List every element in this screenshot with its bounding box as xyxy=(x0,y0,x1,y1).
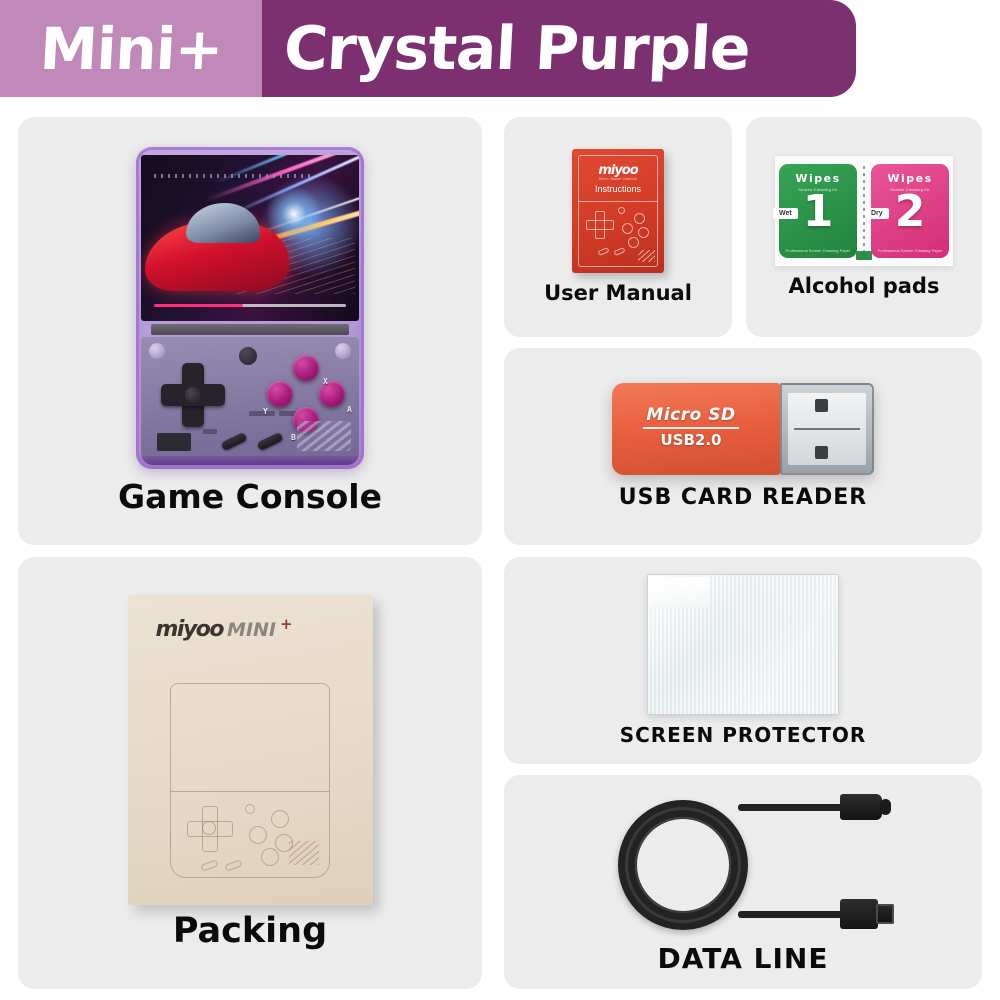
select-button xyxy=(220,431,247,450)
wipe-title-wet: Wipes xyxy=(779,172,857,185)
box-outline-dpad-center xyxy=(202,821,216,835)
item-card-usb-card-reader[interactable]: Micro SD USB2.0 USB CARD READER xyxy=(504,348,982,545)
wipe-footer-wet: Professional Screen Cleaning Paper xyxy=(779,249,857,253)
manual-button-outline xyxy=(622,223,633,234)
wipe-footer-dry: Professional Screen Cleaning Paper xyxy=(871,249,949,253)
button-y xyxy=(267,381,293,407)
manual-divider xyxy=(578,201,658,202)
box-outline-button xyxy=(271,810,289,828)
usb-connector-bar xyxy=(794,428,860,430)
box-outline-button xyxy=(249,826,267,844)
manual-logo: miyoo xyxy=(572,163,664,178)
console-control-deck: X Y A B xyxy=(141,337,359,465)
model-badge-label: Mini+ xyxy=(38,20,223,78)
retail-box: miyoo MINI + xyxy=(128,595,373,905)
item-card-data-line[interactable]: DATA LINE xyxy=(504,775,982,989)
console-screen xyxy=(141,155,359,321)
item-label-data-line: DATA LINE xyxy=(658,942,829,975)
screen-light-flare xyxy=(266,186,322,242)
box-outline-select xyxy=(200,859,218,871)
usb-a-connector xyxy=(780,383,874,475)
item-label-packing: Packing xyxy=(173,911,327,951)
item-card-packing[interactable]: miyoo MINI + xyxy=(18,557,482,989)
console-hinge-grille xyxy=(151,324,349,335)
cable-coil-inner xyxy=(625,807,741,923)
data-line-image xyxy=(578,790,908,940)
manual-subtitle: Instructions xyxy=(572,184,664,194)
manual-booklet: miyoo Retro Game Console Instructions xyxy=(572,149,664,273)
item-label-user-manual: User Manual xyxy=(544,281,692,305)
colorway-banner: Crystal Purple xyxy=(262,0,856,97)
function-button xyxy=(239,347,257,365)
box-logo-mini: MINI xyxy=(227,619,276,641)
shoulder-button-left xyxy=(149,343,165,359)
protector-film xyxy=(647,574,839,715)
usb-cable xyxy=(578,790,908,940)
usb-c-connector xyxy=(840,794,882,820)
pcb-trace xyxy=(249,411,275,416)
wipe-title-dry: Wipes xyxy=(871,172,949,185)
item-card-game-console[interactable]: X Y A B Game Console xyxy=(18,117,482,545)
usb-card-reader-image: Micro SD USB2.0 xyxy=(612,383,874,475)
user-manual-image: miyoo Retro Game Console Instructions xyxy=(572,149,664,273)
game-console-image: X Y A B xyxy=(136,147,364,469)
box-logo: miyoo MINI + xyxy=(156,617,353,642)
box-console-outline xyxy=(170,683,330,878)
card-reader-body: Micro SD USB2.0 xyxy=(612,383,780,475)
cable-lead-top xyxy=(738,804,846,811)
box-outline-button xyxy=(245,804,255,814)
wipe-sachet-wet: Wipes Screen Cleaning Kit 1 Wet Professi… xyxy=(779,164,857,258)
product-title-banner: Mini+ Crystal Purple xyxy=(0,0,856,97)
button-x xyxy=(293,355,319,381)
model-badge: Mini+ xyxy=(0,0,262,97)
card-reader-rule xyxy=(643,427,739,429)
pack-tab-nub xyxy=(856,251,872,260)
box-logo-plus: + xyxy=(280,615,293,633)
manual-button-outline xyxy=(618,207,625,214)
manual-button-outline xyxy=(634,213,645,224)
box-outline-button xyxy=(261,848,279,866)
packing-box-image: miyoo MINI + xyxy=(128,595,373,905)
box-outline-screen xyxy=(171,684,329,792)
item-card-user-manual[interactable]: miyoo Retro Game Console Instructions Us… xyxy=(504,117,732,337)
usb-a-connector xyxy=(840,899,878,929)
button-a-label: A xyxy=(347,405,352,414)
item-label-alcohol-pads: Alcohol pads xyxy=(789,274,940,298)
card-reader-microsd-text: Micro SD xyxy=(612,405,770,425)
item-card-alcohol-pads[interactable]: Wipes Screen Cleaning Kit 1 Wet Professi… xyxy=(746,117,982,337)
button-y-label: Y xyxy=(263,407,268,416)
start-button xyxy=(256,431,283,450)
cable-lead-bottom xyxy=(738,911,846,918)
manual-speaker-outline xyxy=(638,250,655,262)
package-contents-grid: X Y A B Game Console miyoo Retro Game Co… xyxy=(0,105,1000,1000)
console-shell: X Y A B xyxy=(136,147,364,469)
protector-sheen xyxy=(648,575,838,714)
wipe-sachet-dry: Wipes Screen Cleaning Kit 2 Dry Professi… xyxy=(871,164,949,258)
card-reader-print: Micro SD USB2.0 xyxy=(612,405,770,449)
shoulder-button-right xyxy=(335,343,351,359)
console-bottom-edge xyxy=(141,456,359,465)
speaker-grille xyxy=(297,421,351,451)
manual-button-outline xyxy=(628,237,639,248)
button-b-label: B xyxy=(291,433,296,442)
box-outline-start xyxy=(224,859,242,871)
usb-connector-contacts xyxy=(788,393,866,465)
card-reader-usb-version-text: USB2.0 xyxy=(612,431,770,449)
box-logo-miyoo: miyoo xyxy=(156,617,224,642)
screen-progress-bar xyxy=(154,304,346,307)
pcb-chip xyxy=(157,433,191,451)
screen-protector-image xyxy=(647,574,839,715)
manual-tagline: Retro Game Console xyxy=(572,177,664,181)
box-outline-dpad xyxy=(187,806,231,850)
box-outline-speaker xyxy=(289,841,319,865)
item-label-screen-protector: SCREEN PROTECTOR xyxy=(620,723,867,747)
colorway-label: Crystal Purple xyxy=(282,19,751,79)
manual-dpad-outline xyxy=(586,211,612,237)
alcohol-pads-image: Wipes Screen Cleaning Kit 1 Wet Professi… xyxy=(775,156,953,266)
wipe-tab-wet: Wet xyxy=(773,208,798,219)
card-reader-device: Micro SD USB2.0 xyxy=(612,383,874,475)
item-card-screen-protector[interactable]: SCREEN PROTECTOR xyxy=(504,557,982,764)
wipes-pack: Wipes Screen Cleaning Kit 1 Wet Professi… xyxy=(775,156,953,266)
button-x-label: X xyxy=(323,377,328,386)
item-label-game-console: Game Console xyxy=(118,477,382,516)
pcb-trace xyxy=(203,429,217,434)
item-label-usb-card-reader: USB CARD READER xyxy=(619,485,867,510)
dpad-center xyxy=(185,387,201,403)
wipe-tab-dry: Dry xyxy=(865,208,889,219)
manual-button-outline xyxy=(638,227,649,238)
